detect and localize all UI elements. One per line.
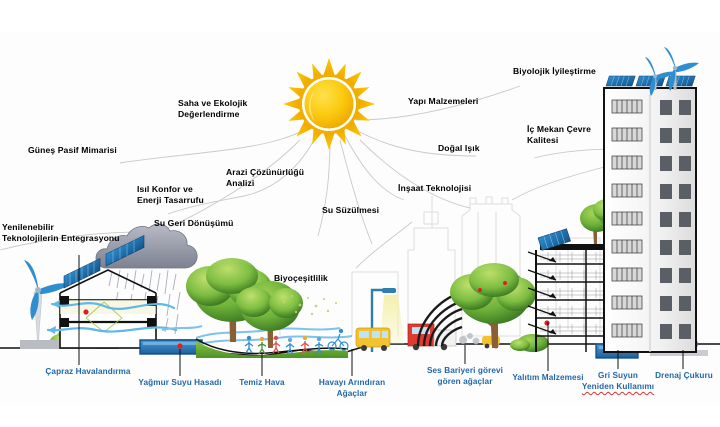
label-su-suzulmesi: Su Süzülmesi (322, 205, 379, 216)
label-yeniden-kullanimi: Yeniden Kullanımı (568, 382, 668, 393)
high-rise-tower (604, 47, 699, 352)
sun-icon (283, 58, 375, 150)
label-dogal-isik: Doğal Işık (438, 143, 480, 154)
label-biyocesitlilik: Biyoçeşitlilik (274, 273, 328, 284)
infographic-canvas: Güneş Pasif Mimarisi Yenilenebilir Tekno… (0, 0, 720, 427)
label-yenilenebilir-teknolojiler: Yenilenebilir Teknolojilerin Entegrasyon… (2, 222, 120, 244)
label-arazi-cozunurlugu: Arazi Çözünürlüğü Analizi (226, 167, 304, 189)
cyclist-icon (328, 329, 348, 350)
label-biyolojik-iyilestirme: Biyolojik İyileştirme (513, 66, 596, 77)
label-yapi-malzemeleri: Yapı Malzemeleri (408, 96, 478, 107)
label-havayi-arindiran-agaclar: Havayı Arındıran Ağaçlar (292, 378, 412, 399)
sound-barrier-trees (450, 263, 536, 348)
label-drenaj-cukuru: Drenaj Çukuru (638, 371, 720, 382)
label-isil-konfor: Isıl Konfor ve Enerji Tasarrufu (137, 184, 204, 206)
label-ic-mekan-cevre-kalitesi: İç Mekan Çevre Kalitesi (527, 124, 591, 146)
tower-balconies (612, 100, 642, 337)
label-gunes-pasif-mimarisi: Güneş Pasif Mimarisi (28, 145, 117, 156)
label-insaat-teknolojisi: İnşaat Teknolojisi (398, 183, 471, 194)
rainwater-basin (140, 340, 202, 354)
label-saha-ve-ekolojik: Saha ve Ekolojik Değerlendirme (178, 98, 247, 120)
tree-medium-left (236, 281, 303, 348)
label-su-geri-donusumu: Su Geri Dönüşümü (154, 218, 233, 229)
label-capraz-havalandirma: Çapraz Havalandırma (8, 367, 168, 378)
